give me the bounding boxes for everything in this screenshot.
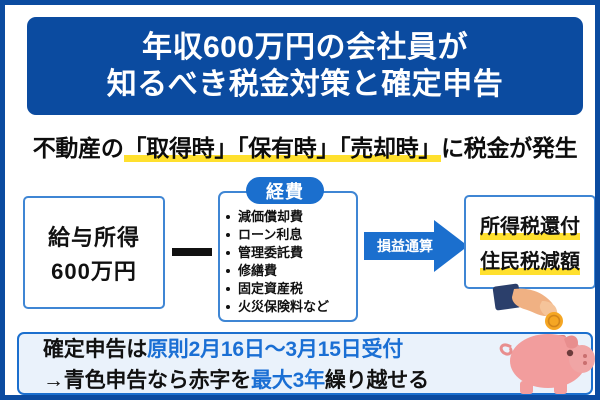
result-line-1: 所得税還付 <box>480 210 580 240</box>
title-line-2: 知るべき税金対策と確定申告 <box>107 67 504 102</box>
result-box: 所得税還付 住民税減額 <box>464 195 596 289</box>
minus-sign-icon <box>172 248 212 256</box>
bottom-line-2-suffix: 繰り越せる <box>325 369 429 392</box>
list-item: 減価償却費 <box>224 208 356 226</box>
subtitle-prefix: 不動産の <box>33 135 124 161</box>
salary-amount: 600万円 <box>51 254 137 286</box>
subtitle: 不動産の「取得時」「保有時」「売却時」に税金が発生 <box>5 129 600 163</box>
subtitle-suffix: に税金が発生 <box>441 135 577 161</box>
bottom-line-1-prefix: 確定申告は <box>43 338 147 361</box>
bottom-note-panel: 確定申告は原則2月16日〜3月15日受付 →青色申告なら赤字を最大3年繰り越せる <box>17 332 593 395</box>
title-line-1: 年収600万円の会社員が <box>142 30 468 65</box>
salary-label: 給与所得 <box>48 220 140 252</box>
expense-list: 減価償却費 ローン利息 管理委託費 修繕費 固定資産税 火災保険料など <box>224 208 356 316</box>
list-item: ローン利息 <box>224 226 356 244</box>
list-item: 修繕費 <box>224 262 356 280</box>
infographic-root: 年収600万円の会社員が 知るべき税金対策と確定申告 不動産の「取得時」「保有時… <box>0 0 600 400</box>
result-line-2: 住民税減額 <box>480 245 580 275</box>
list-item: 火災保険料など <box>224 298 356 316</box>
list-item: 固定資産税 <box>224 280 356 298</box>
arrow-label: 損益通算 <box>367 236 443 256</box>
bottom-line-2-highlight: 最大3年 <box>251 369 325 392</box>
list-item: 管理委託費 <box>224 244 356 262</box>
bottom-line-2: →青色申告なら赤字を最大3年繰り越せる <box>43 364 429 394</box>
expense-badge: 経費 <box>246 177 324 204</box>
subtitle-highlight: 「取得時」「保有時」「売却時」 <box>124 135 442 162</box>
bottom-line-1: 確定申告は原則2月16日〜3月15日受付 <box>43 333 403 363</box>
title-banner: 年収600万円の会社員が 知るべき税金対策と確定申告 <box>27 17 583 115</box>
bottom-line-2-prefix: →青色申告なら赤字を <box>43 369 251 392</box>
bottom-line-1-highlight: 原則2月16日〜3月15日受付 <box>147 338 403 361</box>
salary-income-box: 給与所得 600万円 <box>23 196 165 309</box>
